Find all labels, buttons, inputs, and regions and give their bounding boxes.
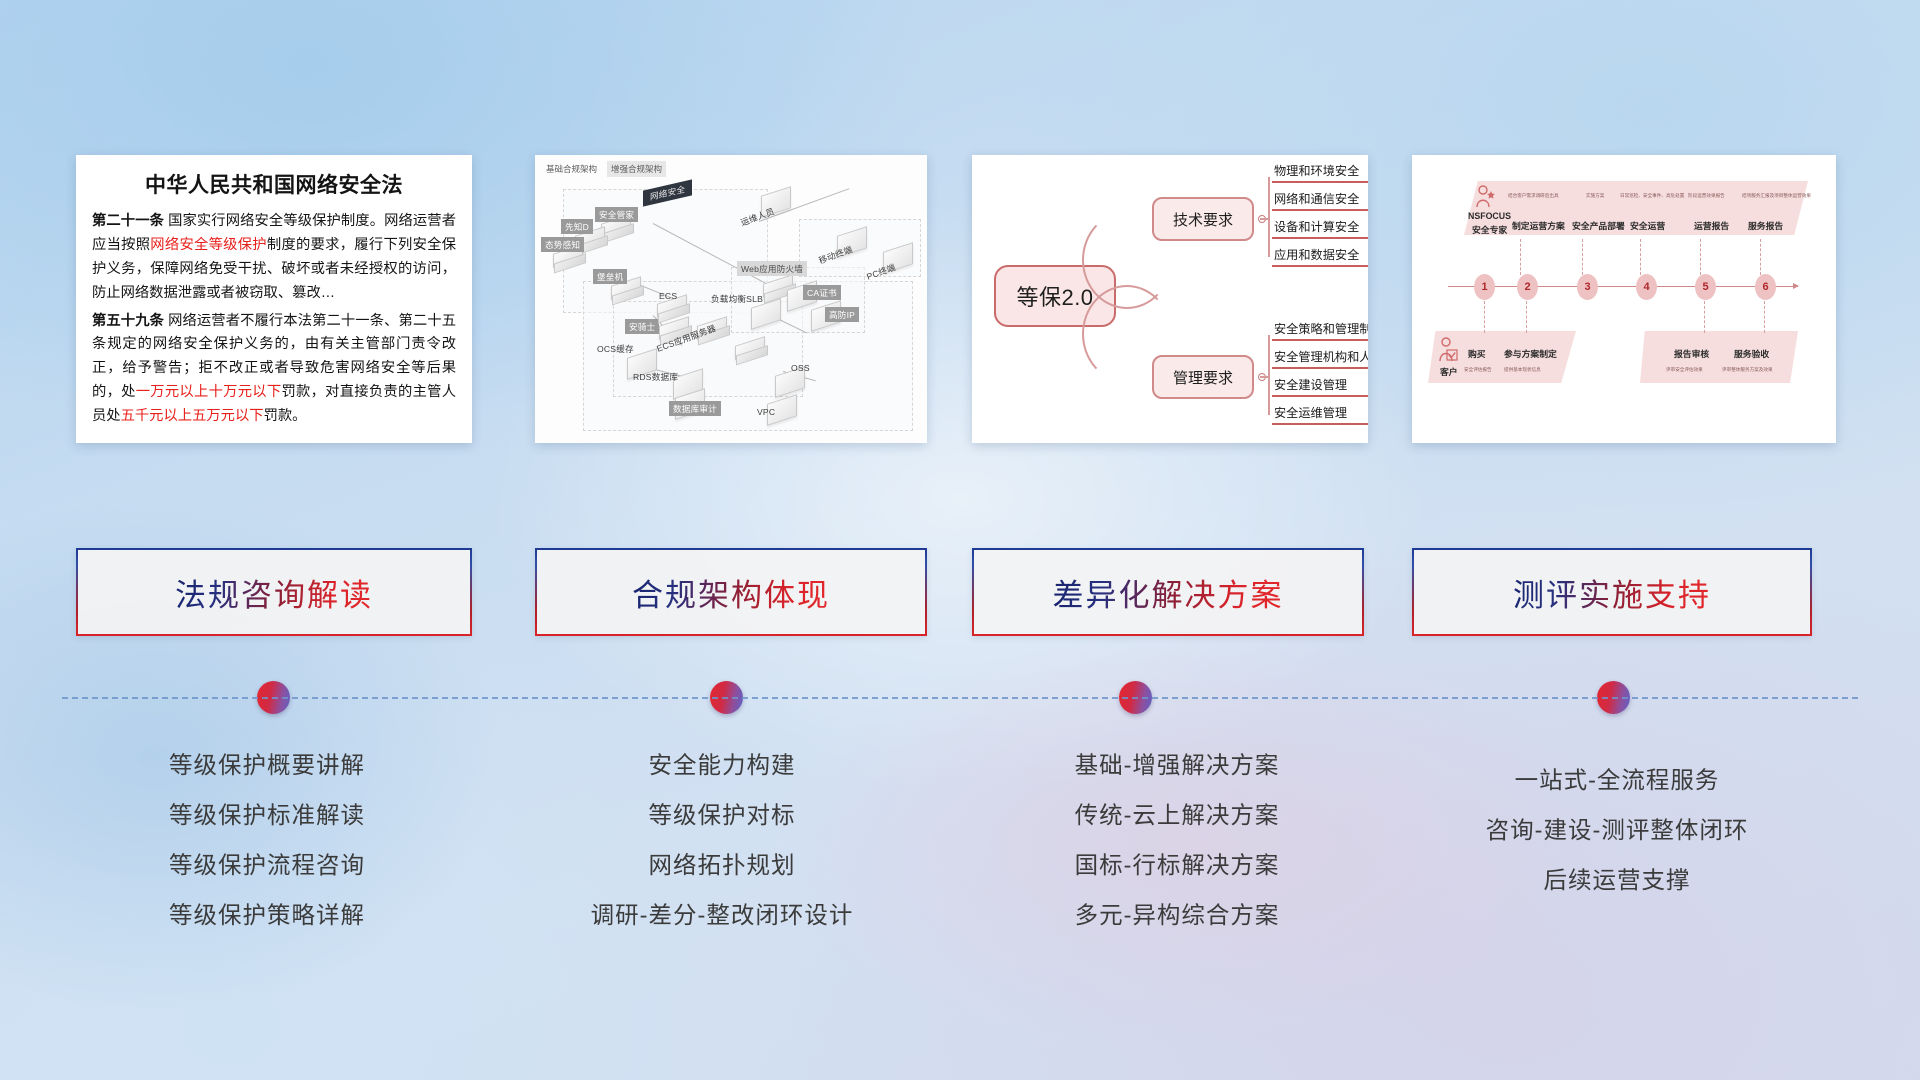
mindmap-leaf: 安全运维管理 [1272, 403, 1368, 425]
section-title-1: 合规架构体现 [632, 570, 830, 615]
list-item: 等级保护标准解读 [62, 790, 472, 840]
arch-label-anqishi: 安骑士 [625, 319, 659, 334]
list-item: 国标-行标解决方案 [972, 840, 1382, 890]
dashed-connector [1484, 301, 1485, 333]
arch-label-anti-ddos-ip: 高防IP [825, 307, 859, 322]
top-step-main: 制定运营方案 [1512, 219, 1565, 232]
section-title-3: 测评实施支持 [1513, 570, 1711, 615]
list-item: 后续运营支撑 [1412, 855, 1822, 905]
list-item: 网络拓扑规划 [517, 840, 927, 890]
law-article-21-label: 第二十一条 [92, 213, 164, 229]
mindmap-leaf: 安全建设管理 [1272, 375, 1368, 397]
bullet-list-3: 一站式-全流程服务 咨询-建设-测评整体闭环 后续运营支撑 [1412, 755, 1822, 905]
mindmap-spine-technical [1268, 177, 1270, 257]
law-article-59-highlight-1: 一万元以上十万元以下 [136, 384, 282, 400]
timeline-step-node: 6 [1755, 274, 1776, 300]
customer-person-icon [1438, 337, 1458, 363]
mindmap-leaf: 安全策略和管理制度 [1272, 319, 1368, 341]
timeline-step-node: 2 [1517, 274, 1538, 300]
section-title-box-0[interactable]: 法规咨询解读 [76, 548, 472, 636]
bottom-step-sub: 评审安全评估效果 [1666, 367, 1703, 373]
arch-label-rds: RDS数据库 [633, 371, 678, 383]
mindmap-stub [1260, 376, 1270, 378]
arch-label-slb: 负载均衡SLB [711, 293, 763, 305]
bottom-step-sub: 安全评估报告 [1464, 367, 1492, 373]
arch-label-situational-awareness: 态势感知 [541, 237, 584, 252]
mindmap-branch-technical: 技术要求 [1152, 197, 1254, 241]
list-item: 调研-差分-整改闭环设计 [517, 890, 927, 940]
column-legal-consulting: 中华人民共和国网络安全法 第二十一条 国家实行网络安全等级保护制度。网络运营者应… [62, 0, 472, 1080]
bottom-step-main: 购买 [1468, 347, 1486, 360]
top-step-sub: 阶段运营效果报告 [1688, 193, 1725, 199]
top-step-main: 服务报告 [1748, 219, 1783, 232]
expert-label-line2: 安全专家 [1472, 223, 1507, 236]
dashed-connector [1520, 239, 1521, 275]
nsfocus-timeline-diagram: NSFOCUS 安全专家 结合客户需求调研后出具 制定运营方案 实施方案 安全产… [1412, 155, 1836, 443]
timeline-step-node: 5 [1695, 274, 1716, 300]
dashed-connector [1582, 239, 1583, 275]
mindmap-leaf: 物理和环境安全 [1272, 161, 1368, 183]
bottom-step-sub: 评审整体服务方案及效果 [1722, 367, 1773, 373]
list-item: 安全能力构建 [517, 740, 927, 790]
top-step-sub: 实施方案 [1586, 193, 1604, 199]
list-item: 等级保护概要讲解 [62, 740, 472, 790]
list-item: 咨询-建设-测评整体闭环 [1412, 805, 1822, 855]
arch-label-ecs: ECS [659, 291, 677, 301]
section-title-0: 法规咨询解读 [175, 570, 373, 615]
timeline-step-node: 3 [1577, 274, 1598, 300]
timeline-step-node: 1 [1474, 274, 1495, 300]
arch-label-waf: Web应用防火墙 [737, 261, 807, 276]
timeline-dashed-line [62, 697, 1858, 699]
mindmap-leaf: 网络和通信安全 [1272, 189, 1368, 211]
bottom-step-main: 报告审核 [1674, 347, 1709, 360]
arch-label-vpc: VPC [757, 407, 775, 417]
bottom-step-main: 参与方案制定 [1504, 347, 1557, 360]
column-compliance-architecture: 基础合规架构 增强合规架构 网络安全 [517, 0, 927, 1080]
bullet-list-2: 基础-增强解决方案 传统-云上解决方案 国标-行标解决方案 多元-异构综合方案 [972, 740, 1382, 940]
top-step-sub: 日常巡检、安全事件、高危处置 [1620, 193, 1684, 199]
arch-node-ecs [657, 299, 687, 313]
architecture-diagram: 基础合规架构 增强合规架构 网络安全 [535, 155, 927, 443]
arch-label-security-butler: 安全管家 [595, 207, 638, 222]
arch-label-oss: OSS [791, 363, 810, 373]
section-title-box-1[interactable]: 合规架构体现 [535, 548, 927, 636]
arch-node-oss [775, 371, 805, 393]
list-item: 基础-增强解决方案 [972, 740, 1382, 790]
top-step-sub: 结合客户需求调研后出具 [1508, 193, 1559, 199]
thumbnail-card-mindmap[interactable]: 等保2.0 技术要求 物理和环境安全 网络和通信安全 设备和计算安全 应用和数据… [972, 155, 1368, 443]
timeline-axis [1448, 286, 1798, 287]
section-title-2: 差异化解决方案 [1053, 570, 1284, 615]
section-title-box-2[interactable]: 差异化解决方案 [972, 548, 1364, 636]
thumbnail-card-nsfocus-timeline[interactable]: NSFOCUS 安全专家 结合客户需求调研后出具 制定运营方案 实施方案 安全产… [1412, 155, 1836, 443]
top-step-main: 安全运营 [1630, 219, 1665, 232]
dashed-connector [1764, 301, 1765, 333]
mindmap-leaf: 应用和数据安全 [1272, 245, 1368, 267]
mindmap-branch-management: 管理要求 [1152, 355, 1254, 399]
arch-label-ocs-cache: OCS缓存 [597, 343, 634, 355]
bullet-list-0: 等级保护概要讲解 等级保护标准解读 等级保护流程咨询 等级保护策略详解 [62, 740, 472, 940]
mindmap-leaf: 设备和计算安全 [1272, 217, 1368, 239]
architecture-canvas: 网络安全 安全管家 先知D 态势感知 [535, 155, 927, 443]
dashed-connector [1760, 239, 1761, 275]
expert-person-icon [1474, 185, 1496, 209]
banner-bottom-right [1640, 331, 1798, 383]
dashed-connector [1700, 239, 1701, 275]
slide-stage: 中华人民共和国网络安全法 第二十一条 国家实行网络安全等级保护制度。网络运营者应… [0, 0, 1920, 1080]
law-article-21-highlight: 网络安全等级保护 [150, 237, 267, 253]
list-item: 等级保护策略详解 [62, 890, 472, 940]
law-title: 中华人民共和国网络安全法 [92, 169, 456, 199]
section-title-box-3[interactable]: 测评实施支持 [1412, 548, 1812, 636]
arch-node-ecs-app-server-b [735, 341, 765, 355]
bottom-step-sub: 提供基本现状信息 [1504, 367, 1541, 373]
list-item: 传统-云上解决方案 [972, 790, 1382, 840]
column-assessment-support: NSFOCUS 安全专家 结合客户需求调研后出具 制定运营方案 实施方案 安全产… [1412, 0, 1822, 1080]
dashed-connector [1704, 301, 1705, 333]
dashed-connector [1640, 239, 1641, 275]
expert-label-line1: NSFOCUS [1468, 211, 1511, 221]
mindmap-stub [1260, 218, 1270, 220]
bullet-list-1: 安全能力构建 等级保护对标 网络拓扑规划 调研-差分-整改闭环设计 [517, 740, 927, 940]
dashed-connector [1526, 301, 1527, 333]
mindmap-diagram: 等保2.0 技术要求 物理和环境安全 网络和通信安全 设备和计算安全 应用和数据… [972, 155, 1368, 443]
thumbnail-card-law[interactable]: 中华人民共和国网络安全法 第二十一条 国家实行网络安全等级保护制度。网络运营者应… [76, 155, 472, 443]
mindmap-spine-management [1268, 335, 1270, 415]
arch-label-bastion-host: 堡垒机 [593, 269, 627, 284]
law-article-59: 第五十九条 网络运营者不履行本法第二十一条、第二十五条规定的网络安全保护义务的，… [92, 310, 456, 429]
arch-label-db-audit: 数据库审计 [669, 401, 721, 416]
top-step-main: 运营报告 [1694, 219, 1729, 232]
list-item: 一站式-全流程服务 [1412, 755, 1822, 805]
top-step-sub: 结项服务汇报及项目整体运营效果 [1742, 193, 1811, 199]
customer-label: 客户 [1440, 365, 1458, 378]
law-article-59-text-c: 罚款。 [264, 408, 307, 424]
list-item: 多元-异构综合方案 [972, 890, 1382, 940]
list-item: 等级保护流程咨询 [62, 840, 472, 890]
top-step-main: 安全产品部署 [1572, 219, 1625, 232]
law-document: 中华人民共和国网络安全法 第二十一条 国家实行网络安全等级保护制度。网络运营者应… [76, 155, 472, 439]
arch-label-xianzhi: 先知D [561, 219, 593, 234]
arch-label-ca-cert: CA证书 [803, 285, 841, 300]
arch-node-slb [751, 303, 781, 325]
law-article-59-highlight-2: 五千元以上五万元以下 [121, 408, 264, 424]
mindmap-leaf: 安全管理机构和人员 [1272, 347, 1368, 369]
thumbnail-card-architecture[interactable]: 基础合规架构 增强合规架构 网络安全 [535, 155, 927, 443]
law-article-21: 第二十一条 国家实行网络安全等级保护制度。网络运营者应当按照网络安全等级保护制度… [92, 210, 456, 306]
column-differentiated-solution: 等保2.0 技术要求 物理和环境安全 网络和通信安全 设备和计算安全 应用和数据… [972, 0, 1382, 1080]
timeline-step-node: 4 [1636, 274, 1657, 300]
bottom-step-main: 服务验收 [1734, 347, 1769, 360]
list-item: 等级保护对标 [517, 790, 927, 840]
law-article-59-label: 第五十九条 [92, 313, 164, 329]
